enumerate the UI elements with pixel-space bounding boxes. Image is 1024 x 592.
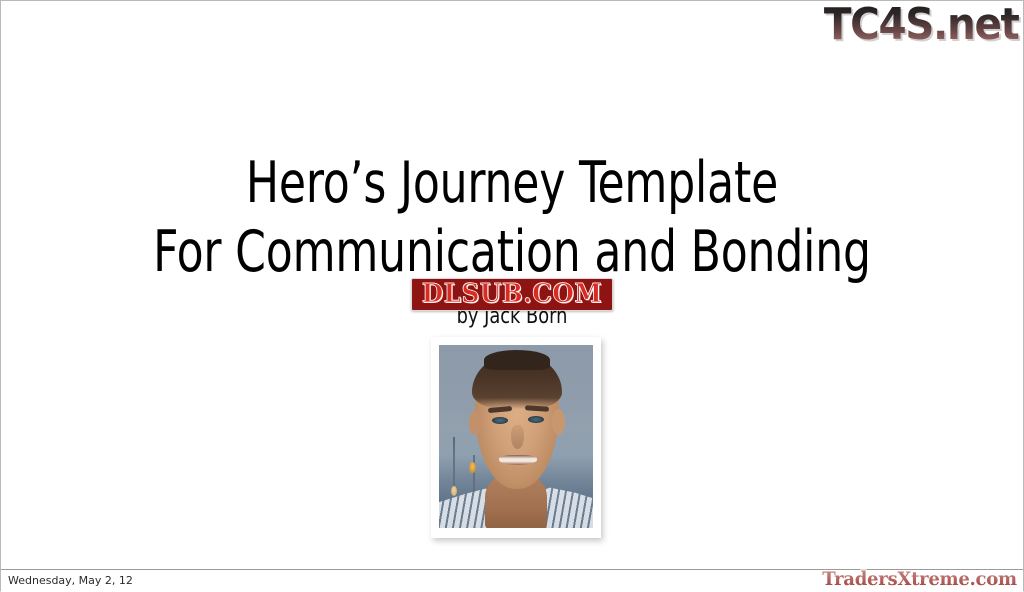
- tc4s-net-watermark: TC4S.net: [824, 0, 1019, 51]
- portrait-photo: [439, 345, 593, 528]
- photo-eye-right: [528, 416, 544, 423]
- photo-lamp-icon: [451, 486, 457, 496]
- photo-ear-right: [552, 409, 565, 435]
- title-line-1: Hero’s Journey Template: [73, 149, 952, 218]
- title-line-2: For Communication and Bonding: [73, 218, 952, 287]
- photo-lamp-icon: [469, 462, 476, 473]
- portrait-photo-frame: [431, 337, 601, 538]
- slide-title: Hero’s Journey Template For Communicatio…: [1, 149, 1023, 287]
- tradersxtreme-com-watermark: TradersXtreme.com: [822, 568, 1017, 591]
- footer-date: Wednesday, May 2, 12: [8, 574, 133, 588]
- photo-hair-top: [484, 350, 550, 370]
- dlsub-com-watermark: DLSUB.COM: [411, 278, 613, 311]
- presentation-slide: TC4S.net TC4S.net Hero’s Journey Templat…: [0, 0, 1024, 592]
- photo-mouth: [499, 455, 537, 465]
- photo-chin: [497, 467, 539, 487]
- photo-ear-left: [469, 411, 481, 435]
- photo-nose: [511, 425, 524, 449]
- photo-eye-left: [492, 417, 508, 424]
- dlsub-watermark-text: DLSUB.COM: [422, 280, 602, 308]
